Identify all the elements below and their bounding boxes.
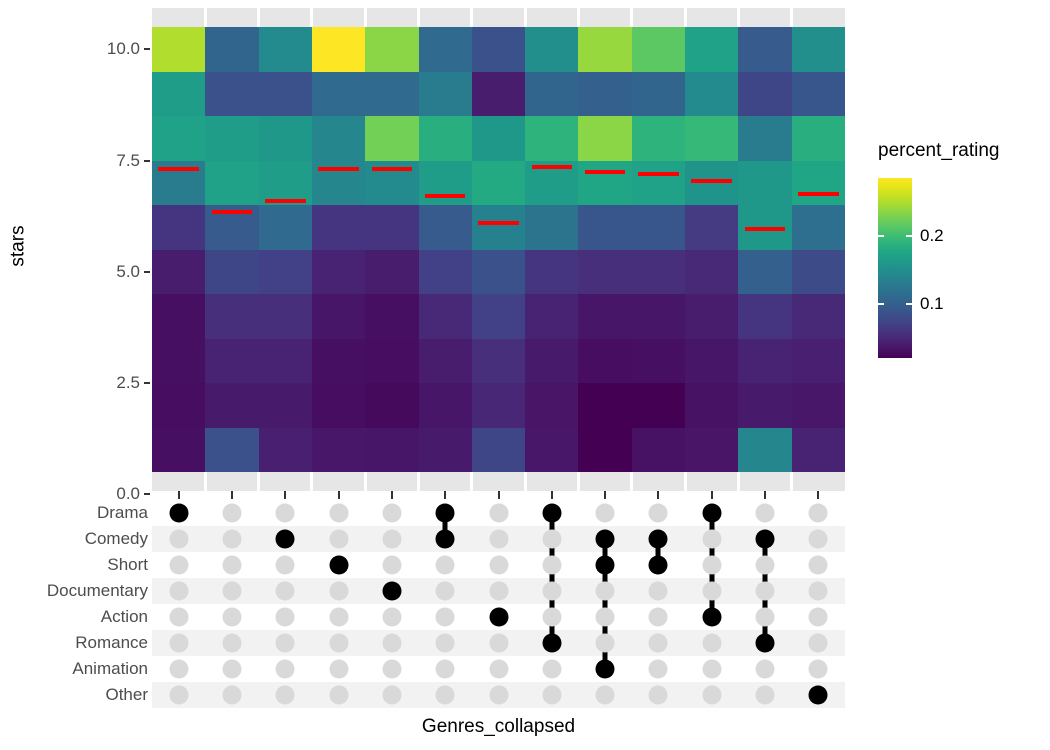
heatmap-cell [365, 205, 418, 250]
upset-dot-empty[interactable] [489, 582, 508, 601]
heatmap-cell [472, 116, 525, 161]
heatmap-cell [578, 116, 631, 161]
heatmap-cell [578, 205, 631, 250]
x-axis-tick-mark [711, 491, 713, 499]
upset-dot-filled[interactable] [382, 582, 401, 601]
heatmap-cell [259, 27, 312, 72]
mean-rating-line [532, 165, 573, 169]
upset-dot-empty[interactable] [222, 608, 241, 627]
upset-dot-empty[interactable] [276, 556, 295, 575]
heatmap-cell [792, 250, 845, 295]
upset-dot-empty[interactable] [809, 556, 828, 575]
heatmap-cell [365, 27, 418, 72]
upset-dot-empty[interactable] [756, 608, 775, 627]
x-axis-tick-mark [391, 491, 393, 499]
heatmap-cell [578, 72, 631, 117]
heatmap-cell [792, 428, 845, 473]
y-axis-tick-label: 2.5 [35, 373, 140, 393]
upset-dot-empty[interactable] [649, 504, 668, 523]
heatmap-cell [632, 205, 685, 250]
upset-dot-empty[interactable] [489, 530, 508, 549]
heatmap-cell [259, 116, 312, 161]
upset-dot-empty[interactable] [276, 582, 295, 601]
upset-dot-empty[interactable] [276, 608, 295, 627]
mean-rating-line [425, 194, 466, 198]
upset-dot-empty[interactable] [436, 686, 455, 705]
mean-rating-line [318, 167, 359, 171]
heatmap-cell [259, 383, 312, 428]
upset-dot-empty[interactable] [169, 556, 188, 575]
upset-dot-filled[interactable] [809, 686, 828, 705]
upset-dot-empty[interactable] [222, 504, 241, 523]
upset-dot-empty[interactable] [329, 608, 348, 627]
upset-dot-empty[interactable] [596, 686, 615, 705]
legend-tick-label: 0.2 [920, 227, 944, 245]
heatmap-cell [685, 339, 738, 384]
legend-title: percent_rating [878, 140, 999, 162]
panel-strip-separator [737, 472, 740, 491]
panel-strip-separator [310, 472, 313, 491]
heatmap-cell [259, 205, 312, 250]
upset-dot-empty[interactable] [489, 660, 508, 679]
upset-dot-empty[interactable] [276, 634, 295, 653]
upset-dot-empty[interactable] [809, 530, 828, 549]
heatmap-cell [632, 161, 685, 206]
heatmap-cell [472, 428, 525, 473]
x-axis-title: Genres_collapsed [152, 712, 845, 742]
upset-dot-filled[interactable] [702, 608, 721, 627]
heatmap-cell [419, 339, 472, 384]
x-axis-tick-mark [284, 491, 286, 499]
mean-rating-line [158, 167, 199, 171]
heatmap-cell [738, 294, 791, 339]
heatmap-cell [152, 205, 205, 250]
upset-dot-empty[interactable] [649, 634, 668, 653]
upset-dot-filled[interactable] [596, 530, 615, 549]
upset-dot-empty[interactable] [542, 608, 561, 627]
heatmap-cell [419, 294, 472, 339]
upset-dot-filled[interactable] [649, 530, 668, 549]
upset-dot-empty[interactable] [489, 686, 508, 705]
upset-dot-empty[interactable] [702, 530, 721, 549]
heatmap-cell [685, 428, 738, 473]
panel-strip-separator [737, 8, 740, 27]
x-axis-tick-mark [444, 491, 446, 499]
heatmap-cell [738, 250, 791, 295]
upset-dot-empty[interactable] [169, 686, 188, 705]
heatmap-cell [152, 294, 205, 339]
upset-dot-empty[interactable] [329, 634, 348, 653]
upset-dot-filled[interactable] [756, 530, 775, 549]
heatmap-cell [205, 250, 258, 295]
heatmap-cell [205, 161, 258, 206]
x-axis-tick-mark [231, 491, 233, 499]
upset-dot-filled[interactable] [276, 530, 295, 549]
upset-matrix-panel [152, 500, 845, 708]
heatmap-cell [525, 205, 578, 250]
heatmap-cell [632, 383, 685, 428]
legend: percent_rating 0.10.2 [872, 140, 1047, 370]
heatmap-cell [365, 72, 418, 117]
heatmap-cell [738, 428, 791, 473]
heatmap-cell [312, 339, 365, 384]
heatmap-cell [205, 72, 258, 117]
upset-set-label: Animation [30, 656, 148, 682]
upset-set-label: Drama [30, 500, 148, 526]
upset-dot-empty[interactable] [542, 660, 561, 679]
upset-dot-empty[interactable] [649, 660, 668, 679]
heatmap-cell [419, 205, 472, 250]
heatmap-cell [472, 339, 525, 384]
heatmap-cell [419, 27, 472, 72]
heatmap-cell [205, 27, 258, 72]
heatmap-cell [259, 294, 312, 339]
panel-strip-separator [417, 8, 420, 27]
heatmap-cell [632, 339, 685, 384]
upset-set-labels: DramaComedyShortDocumentaryActionRomance… [30, 500, 148, 708]
upset-dot-empty[interactable] [169, 530, 188, 549]
panel-strip-separator [204, 472, 207, 491]
heatmap-panel [152, 8, 845, 491]
upset-dot-empty[interactable] [809, 504, 828, 523]
heatmap-cell [365, 339, 418, 384]
heatmap-cell [685, 72, 738, 117]
panel-strip-separator [790, 8, 793, 27]
heatmap-cell [419, 250, 472, 295]
y-axis-tick-mark [144, 493, 150, 495]
x-axis-tick-mark [817, 491, 819, 499]
mean-rating-line [745, 227, 786, 231]
upset-dot-empty[interactable] [222, 634, 241, 653]
heatmap-cell [365, 250, 418, 295]
upset-dot-empty[interactable] [809, 634, 828, 653]
upset-dot-empty[interactable] [809, 608, 828, 627]
heatmap-cell [525, 72, 578, 117]
panel-strip-separator [204, 8, 207, 27]
x-axis-tick-mark [178, 491, 180, 499]
heatmap-cell [578, 250, 631, 295]
heatmap-cell [205, 116, 258, 161]
heatmap-cell [259, 72, 312, 117]
upset-set-label: Comedy [30, 526, 148, 552]
heatmap-cell [259, 339, 312, 384]
y-axis-title-text: stars [8, 225, 30, 266]
panel-strip-separator [684, 8, 687, 27]
panel-strip-separator [310, 8, 313, 27]
mean-rating-line [265, 199, 306, 203]
upset-dot-empty[interactable] [169, 582, 188, 601]
x-axis-tick-mark [551, 491, 553, 499]
upset-dot-filled[interactable] [649, 556, 668, 575]
upset-dot-empty[interactable] [382, 608, 401, 627]
y-axis-tick-labels: 0.02.55.07.510.0 [35, 0, 140, 492]
heatmap-cell [472, 161, 525, 206]
upset-dot-empty[interactable] [222, 582, 241, 601]
upset-dot-empty[interactable] [809, 660, 828, 679]
heatmap-cell [685, 383, 738, 428]
upset-dot-empty[interactable] [649, 608, 668, 627]
heatmap-cell [152, 339, 205, 384]
heatmap-cell [472, 383, 525, 428]
y-axis-tick-mark [144, 382, 150, 384]
upset-dot-empty[interactable] [542, 556, 561, 575]
upset-dot-empty[interactable] [382, 504, 401, 523]
upset-dot-filled[interactable] [756, 634, 775, 653]
heatmap-cell [312, 250, 365, 295]
heatmap-cell [685, 205, 738, 250]
panel-strip-separator [577, 472, 580, 491]
y-axis-tick-mark [144, 48, 150, 50]
upset-dot-empty[interactable] [276, 660, 295, 679]
y-axis-title: stars [4, 0, 34, 492]
heatmap-cell [578, 294, 631, 339]
heatmap-cell [685, 250, 738, 295]
mean-rating-line [638, 172, 679, 176]
heatmap-cell [419, 72, 472, 117]
upset-dot-filled[interactable] [169, 504, 188, 523]
panel-strip-separator [364, 8, 367, 27]
upset-dot-empty[interactable] [756, 504, 775, 523]
upset-dot-empty[interactable] [756, 660, 775, 679]
panel-strip-separator [577, 8, 580, 27]
upset-dot-empty[interactable] [222, 556, 241, 575]
y-axis-tick-mark [144, 160, 150, 162]
upset-dot-empty[interactable] [436, 608, 455, 627]
upset-dot-empty[interactable] [436, 660, 455, 679]
upset-dot-filled[interactable] [542, 504, 561, 523]
legend-tick-mark [906, 303, 912, 305]
heatmap-cell [685, 161, 738, 206]
plot-root: stars 0.02.55.07.510.0 DramaComedyShortD… [0, 0, 1050, 750]
heatmap-cell [472, 72, 525, 117]
heatmap-cell [152, 428, 205, 473]
heatmap-cell [312, 383, 365, 428]
heatmap-cell [578, 161, 631, 206]
legend-tick-mark [906, 235, 912, 237]
heatmap-cell [578, 428, 631, 473]
upset-dot-empty[interactable] [276, 504, 295, 523]
heatmap-cell [632, 294, 685, 339]
upset-dot-empty[interactable] [596, 582, 615, 601]
heatmap-cell [738, 161, 791, 206]
upset-dot-empty[interactable] [489, 634, 508, 653]
upset-dot-empty[interactable] [329, 660, 348, 679]
heatmap-cell [152, 116, 205, 161]
heatmap-cell [312, 72, 365, 117]
panel-strip-separator [257, 472, 260, 491]
upset-dot-empty[interactable] [329, 686, 348, 705]
heatmap-cell [152, 27, 205, 72]
heatmap-cell [205, 339, 258, 384]
upset-dot-empty[interactable] [596, 608, 615, 627]
upset-dot-filled[interactable] [596, 556, 615, 575]
heatmap-cell [365, 294, 418, 339]
mean-rating-line [478, 221, 519, 225]
upset-dot-empty[interactable] [756, 582, 775, 601]
upset-dot-empty[interactable] [329, 582, 348, 601]
heatmap-cell [792, 116, 845, 161]
upset-dot-empty[interactable] [702, 556, 721, 575]
upset-dot-empty[interactable] [222, 686, 241, 705]
heatmap-cell [312, 27, 365, 72]
upset-dot-empty[interactable] [169, 634, 188, 653]
x-axis-tick-mark [657, 491, 659, 499]
upset-dot-empty[interactable] [436, 582, 455, 601]
upset-dot-empty[interactable] [382, 660, 401, 679]
heatmap-cell [419, 161, 472, 206]
upset-dot-empty[interactable] [436, 634, 455, 653]
x-axis-tick-mark [498, 491, 500, 499]
heatmap-cell [792, 27, 845, 72]
upset-dot-empty[interactable] [756, 556, 775, 575]
heatmap-cell [685, 27, 738, 72]
upset-dot-empty[interactable] [382, 530, 401, 549]
heatmap-cell [152, 383, 205, 428]
heatmap-cell [205, 428, 258, 473]
mean-rating-line [798, 192, 839, 196]
upset-dot-empty[interactable] [542, 582, 561, 601]
x-axis-ticks [152, 491, 845, 500]
mean-rating-line [212, 210, 253, 214]
heatmap-cell [525, 250, 578, 295]
upset-dot-empty[interactable] [489, 556, 508, 575]
panel-strip-separator [524, 472, 527, 491]
upset-dot-empty[interactable] [542, 686, 561, 705]
heatmap-cell [525, 294, 578, 339]
heatmap-cell [738, 72, 791, 117]
heatmap-cell [738, 339, 791, 384]
legend-tick-mark [878, 303, 884, 305]
heatmap-cell [365, 116, 418, 161]
upset-dot-empty[interactable] [382, 686, 401, 705]
upset-dot-filled[interactable] [436, 504, 455, 523]
mean-rating-line [691, 179, 732, 183]
upset-dot-empty[interactable] [169, 660, 188, 679]
panel-strip-separator [417, 472, 420, 491]
heatmap-cell [632, 428, 685, 473]
upset-dot-empty[interactable] [542, 530, 561, 549]
upset-dot-empty[interactable] [276, 686, 295, 705]
upset-dot-empty[interactable] [649, 582, 668, 601]
upset-dot-empty[interactable] [649, 686, 668, 705]
heatmap-cell [365, 383, 418, 428]
upset-dot-empty[interactable] [329, 504, 348, 523]
upset-dot-empty[interactable] [222, 660, 241, 679]
heatmap-cell [419, 383, 472, 428]
heatmap-cell [472, 294, 525, 339]
upset-dot-empty[interactable] [489, 504, 508, 523]
upset-dot-filled[interactable] [542, 634, 561, 653]
upset-dot-empty[interactable] [809, 582, 828, 601]
upset-dot-empty[interactable] [596, 634, 615, 653]
heatmap-cell [259, 250, 312, 295]
heatmap-cell [525, 428, 578, 473]
y-axis-tick-mark [144, 271, 150, 273]
heatmap-cell [312, 294, 365, 339]
upset-dot-empty[interactable] [222, 530, 241, 549]
upset-dot-filled[interactable] [329, 556, 348, 575]
heatmap-cell [685, 116, 738, 161]
upset-set-label: Short [30, 552, 148, 578]
heatmap-grid [152, 27, 845, 472]
legend-tick-label: 0.1 [920, 295, 944, 313]
heatmap-cell [685, 294, 738, 339]
heatmap-cell [632, 116, 685, 161]
y-axis-tick-label: 7.5 [35, 151, 140, 171]
upset-dot-empty[interactable] [329, 530, 348, 549]
heatmap-cell [792, 72, 845, 117]
heatmap-cell [525, 116, 578, 161]
heatmap-cell [738, 383, 791, 428]
upset-dot-empty[interactable] [382, 634, 401, 653]
heatmap-cell [738, 27, 791, 72]
upset-dot-empty[interactable] [702, 634, 721, 653]
heatmap-cell [525, 339, 578, 384]
heatmap-cell [472, 250, 525, 295]
panel-strip-separator [257, 8, 260, 27]
heatmap-cell [525, 27, 578, 72]
upset-dot-filled[interactable] [436, 530, 455, 549]
mean-rating-line [372, 167, 413, 171]
upset-dot-empty[interactable] [436, 556, 455, 575]
panel-strip-separator [470, 8, 473, 27]
heatmap-cell [632, 250, 685, 295]
upset-dot-empty[interactable] [702, 660, 721, 679]
heatmap-cell [792, 294, 845, 339]
heatmap-cell [312, 116, 365, 161]
upset-dot-filled[interactable] [596, 660, 615, 679]
heatmap-cell [792, 383, 845, 428]
upset-dot-empty[interactable] [702, 582, 721, 601]
heatmap-cell [792, 339, 845, 384]
heatmap-cell [205, 383, 258, 428]
legend-colorbar [878, 178, 912, 358]
upset-dot-empty[interactable] [169, 608, 188, 627]
y-axis-tick-label: 10.0 [35, 39, 140, 59]
panel-strip-separator [470, 472, 473, 491]
mean-rating-line [585, 170, 626, 174]
upset-set-label: Action [30, 604, 148, 630]
panel-strip-separator [524, 8, 527, 27]
upset-dot-empty[interactable] [382, 556, 401, 575]
heatmap-cell [152, 72, 205, 117]
heatmap-cell [578, 383, 631, 428]
heatmap-cell [312, 428, 365, 473]
upset-dot-empty[interactable] [596, 504, 615, 523]
heatmap-cell [632, 72, 685, 117]
x-axis-tick-mark [338, 491, 340, 499]
heatmap-cell [525, 383, 578, 428]
heatmap-cell [365, 428, 418, 473]
heatmap-cell [792, 161, 845, 206]
heatmap-cell [472, 27, 525, 72]
heatmap-cell [419, 116, 472, 161]
heatmap-cell [205, 294, 258, 339]
panel-strip-separator [630, 8, 633, 27]
x-axis-tick-mark [764, 491, 766, 499]
heatmap-cell [632, 27, 685, 72]
upset-dot-filled[interactable] [489, 608, 508, 627]
upset-dot-empty[interactable] [756, 686, 775, 705]
panel-strip-separator [684, 472, 687, 491]
legend-tick-mark [878, 235, 884, 237]
upset-set-label: Other [30, 682, 148, 708]
upset-dot-filled[interactable] [702, 504, 721, 523]
panel-strip-separator [364, 472, 367, 491]
upset-dot-empty[interactable] [702, 686, 721, 705]
panel-strip-separator [630, 472, 633, 491]
heatmap-cell [419, 428, 472, 473]
